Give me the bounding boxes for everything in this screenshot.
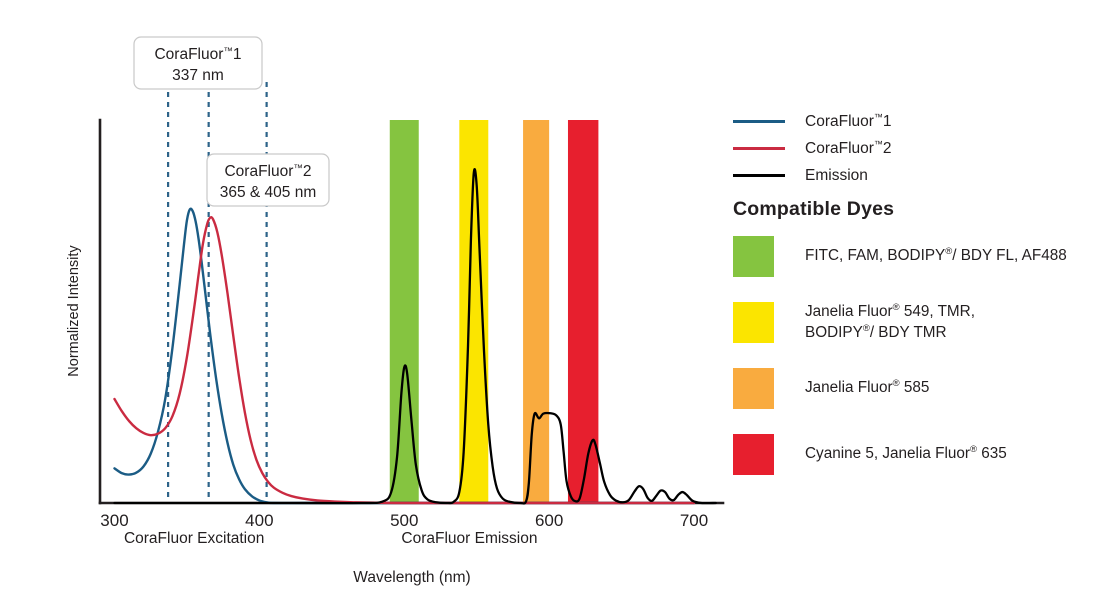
x-tick-label-700: 700 xyxy=(680,511,708,530)
trademark-mark: ™ xyxy=(874,139,883,149)
corafluor2-callout: CoraFluor™2365 & 405 nm xyxy=(207,154,329,206)
legend-item-label: CoraFluor™1 xyxy=(805,112,892,131)
figure-root: 300400500600700 CoraFluor ExcitationCora… xyxy=(0,0,1110,612)
axis-section-corafluor-excitation: CoraFluor Excitation xyxy=(124,530,264,547)
x-tick-label-300: 300 xyxy=(100,511,128,530)
orange-band xyxy=(523,120,549,503)
series-legend: CoraFluor™1CoraFluor™2Emission xyxy=(733,108,1103,189)
dye-label: FITC, FAM, BODIPY®/ BDY FL, AF488 xyxy=(805,246,1067,266)
legend-item-label: CoraFluor™2 xyxy=(805,139,892,158)
legend-line-swatch xyxy=(733,120,785,123)
dye-row-1: Janelia Fluor® 549, TMR,BODIPY®/ BDY TMR xyxy=(733,298,1108,347)
dye-label: Cyanine 5, Janelia Fluor® 635 xyxy=(805,444,1007,464)
legend-item-2: Emission xyxy=(733,162,1103,189)
registered-mark: ® xyxy=(893,378,900,389)
corafluor1-callout: CoraFluor™1337 nm xyxy=(134,37,262,89)
red-band xyxy=(568,120,598,503)
dye-label-line1: Cyanine 5, Janelia Fluor® 635 xyxy=(805,444,1007,464)
dye-label-line1: Janelia Fluor® 549, TMR, xyxy=(805,302,975,322)
dye-row-2: Janelia Fluor® 585 xyxy=(733,364,1108,413)
dye-color-swatch xyxy=(733,302,774,343)
trademark-mark: ™ xyxy=(874,112,883,122)
registered-mark: ® xyxy=(893,302,900,313)
dye-row-3: Cyanine 5, Janelia Fluor® 635 xyxy=(733,430,1108,479)
excitation-vline-layer xyxy=(168,82,267,503)
registered-mark: ® xyxy=(863,323,870,334)
dye-color-swatch xyxy=(733,368,774,409)
dye-color-swatch xyxy=(733,434,774,475)
x-tick-label-600: 600 xyxy=(535,511,563,530)
legend-item-1: CoraFluor™2 xyxy=(733,135,1103,162)
spectra-chart: 300400500600700 CoraFluor ExcitationCora… xyxy=(0,0,740,612)
callout-layer: CoraFluor™1337 nmCoraFluor™2365 & 405 nm xyxy=(134,37,329,206)
dye-label-line2: BODIPY®/ BDY TMR xyxy=(805,323,975,343)
compatible-dyes-list: FITC, FAM, BODIPY®/ BDY FL, AF488Janelia… xyxy=(733,232,1108,496)
y-axis-title: Normalized Intensity xyxy=(66,245,82,377)
dye-label: Janelia Fluor® 549, TMR,BODIPY®/ BDY TMR xyxy=(805,302,975,343)
emission-band-layer xyxy=(390,120,599,503)
registered-mark: ® xyxy=(945,246,952,257)
dye-color-swatch xyxy=(733,236,774,277)
axis-section-corafluor-emission: CoraFluor Emission xyxy=(401,530,537,547)
legend-item-0: CoraFluor™1 xyxy=(733,108,1103,135)
compatible-dyes-title: Compatible Dyes xyxy=(733,198,894,221)
axis-section-label-layer: CoraFluor ExcitationCoraFluor Emission xyxy=(124,530,538,547)
registered-mark: ® xyxy=(970,444,977,455)
dye-label-line1: Janelia Fluor® 585 xyxy=(805,378,929,398)
right-panel: CoraFluor™1CoraFluor™2Emission Compatibl… xyxy=(730,0,1110,612)
corafluor1-callout-line2: 337 nm xyxy=(172,67,224,84)
dye-row-0: FITC, FAM, BODIPY®/ BDY FL, AF488 xyxy=(733,232,1108,281)
legend-item-label: Emission xyxy=(805,167,868,185)
x-axis-title: Wavelength (nm) xyxy=(353,569,470,586)
dye-label: Janelia Fluor® 585 xyxy=(805,378,929,398)
x-tick-label-400: 400 xyxy=(245,511,273,530)
x-tick-label-500: 500 xyxy=(390,511,418,530)
dye-label-line1: FITC, FAM, BODIPY®/ BDY FL, AF488 xyxy=(805,246,1067,266)
x-tick-label-layer: 300400500600700 xyxy=(100,511,708,530)
legend-line-swatch xyxy=(733,147,785,150)
legend-line-swatch xyxy=(733,174,785,177)
corafluor2-callout-line2: 365 & 405 nm xyxy=(220,184,317,201)
chart-svg: 300400500600700 CoraFluor ExcitationCora… xyxy=(0,0,740,612)
